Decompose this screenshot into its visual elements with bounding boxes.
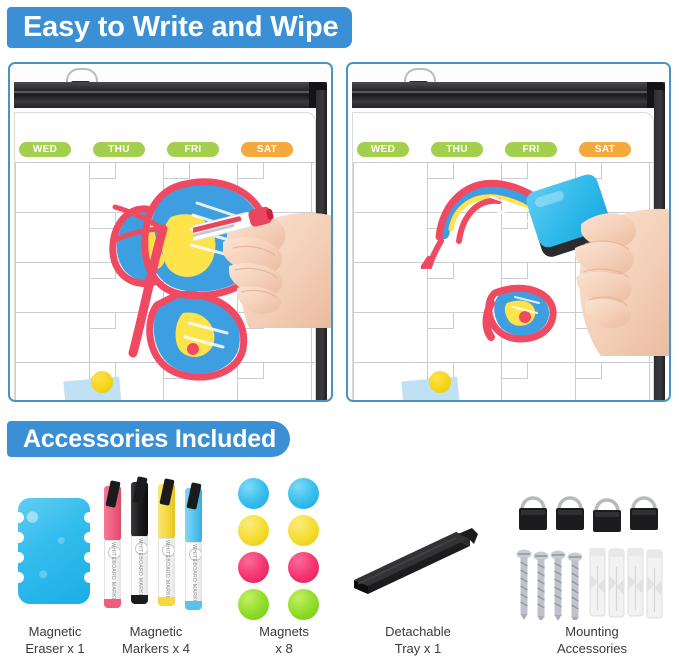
rail-groove: [14, 91, 327, 93]
accessory-label-magnetic-markers: Magnetic Markers x 4: [100, 623, 212, 657]
label-line-1: Magnetic: [100, 623, 212, 640]
weekday-pill-thu: THU: [93, 142, 145, 157]
marker-blue: WHITEBOARD MARKER: [185, 488, 202, 610]
mounting-hooks-icon: [516, 486, 666, 542]
marker-pink: WHITEBOARD MARKER: [104, 486, 121, 608]
marker-black: WHITEBOARD MARKER: [131, 482, 148, 604]
board-body-wipe: WED THU FRI SAT: [352, 68, 665, 402]
magnet-green-1: [238, 589, 269, 620]
magnet-pink-1: [238, 552, 269, 583]
weekday-pill-sat: SAT: [579, 142, 631, 157]
accessory-label-magnets: Magnets x 8: [232, 623, 336, 657]
label-line-2: Eraser x 1: [0, 640, 110, 657]
magnet-green-2: [288, 589, 319, 620]
accessory-label-magnetic-eraser: Magnetic Eraser x 1: [0, 623, 110, 657]
accessory-detachable-tray: [352, 518, 482, 603]
hand-with-eraser: [515, 156, 671, 356]
label-line-2: x 8: [232, 640, 336, 657]
accessory-magnets: [236, 478, 332, 618]
rail-groove: [352, 91, 665, 93]
section-title-write-and-wipe: Easy to Write and Wipe: [7, 7, 352, 48]
weekday-header-row-wipe: WED THU FRI SAT: [353, 142, 653, 157]
sticky-note-magnet: [429, 371, 451, 393]
weekday-pill-sat: SAT: [241, 142, 293, 157]
marker-barrel-text: WHITEBOARD MARKER: [137, 538, 143, 601]
label-line-2: Markers x 4: [100, 640, 212, 657]
magnet-blue-2: [288, 478, 319, 509]
magnet-yellow-1: [238, 515, 269, 546]
marker-yellow: WHITEBOARD MARKER: [158, 484, 175, 606]
whiteboard-panel-wipe: WED THU FRI SAT: [346, 62, 671, 402]
accessory-label-mounting: Mounting Accessories: [512, 623, 672, 657]
marker-barrel-text: WHITEBOARD MARKER: [191, 544, 197, 607]
weekday-pill-wed: WED: [19, 142, 71, 157]
sticky-note-magnet: [91, 371, 113, 393]
hand-with-marker: [193, 168, 333, 328]
label-line-1: Magnets: [232, 623, 336, 640]
marker-barrel-text: WHITEBOARD MARKER: [164, 540, 170, 603]
accessory-label-detachable-tray: Detachable Tray x 1: [352, 623, 484, 657]
mounting-screws-icon: [516, 548, 582, 620]
label-line-1: Detachable: [352, 623, 484, 640]
mounting-wall-plugs-icon: [588, 548, 666, 620]
board-body-write: WED THU FRI SAT: [14, 68, 327, 402]
accessory-mounting: [516, 486, 666, 626]
magnet-blue-1: [238, 478, 269, 509]
accessory-magnetic-eraser: [18, 498, 90, 604]
tray-icon: [352, 518, 482, 598]
weekday-header-row-write: WED THU FRI SAT: [15, 142, 315, 157]
weekday-pill-fri: FRI: [167, 142, 219, 157]
board-top-rail: [14, 82, 327, 108]
eraser-icon: [18, 498, 90, 604]
accessory-magnetic-markers: WHITEBOARD MARKER WHITEBOARD MARKER WHIT…: [104, 482, 208, 608]
section-title-accessories: Accessories Included: [7, 421, 290, 457]
label-line-2: Accessories: [512, 640, 672, 657]
label-line-2: Tray x 1: [352, 640, 484, 657]
weekday-pill-fri: FRI: [505, 142, 557, 157]
magnet-yellow-2: [288, 515, 319, 546]
board-top-rail: [352, 82, 665, 108]
weekday-pill-wed: WED: [357, 142, 409, 157]
label-line-1: Magnetic: [0, 623, 110, 640]
label-line-1: Mounting: [512, 623, 672, 640]
weekday-pill-thu: THU: [431, 142, 483, 157]
magnet-pink-2: [288, 552, 319, 583]
marker-barrel-text: WHITEBOARD MARKER: [110, 542, 116, 605]
whiteboard-panel-write: WED THU FRI SAT: [8, 62, 333, 402]
